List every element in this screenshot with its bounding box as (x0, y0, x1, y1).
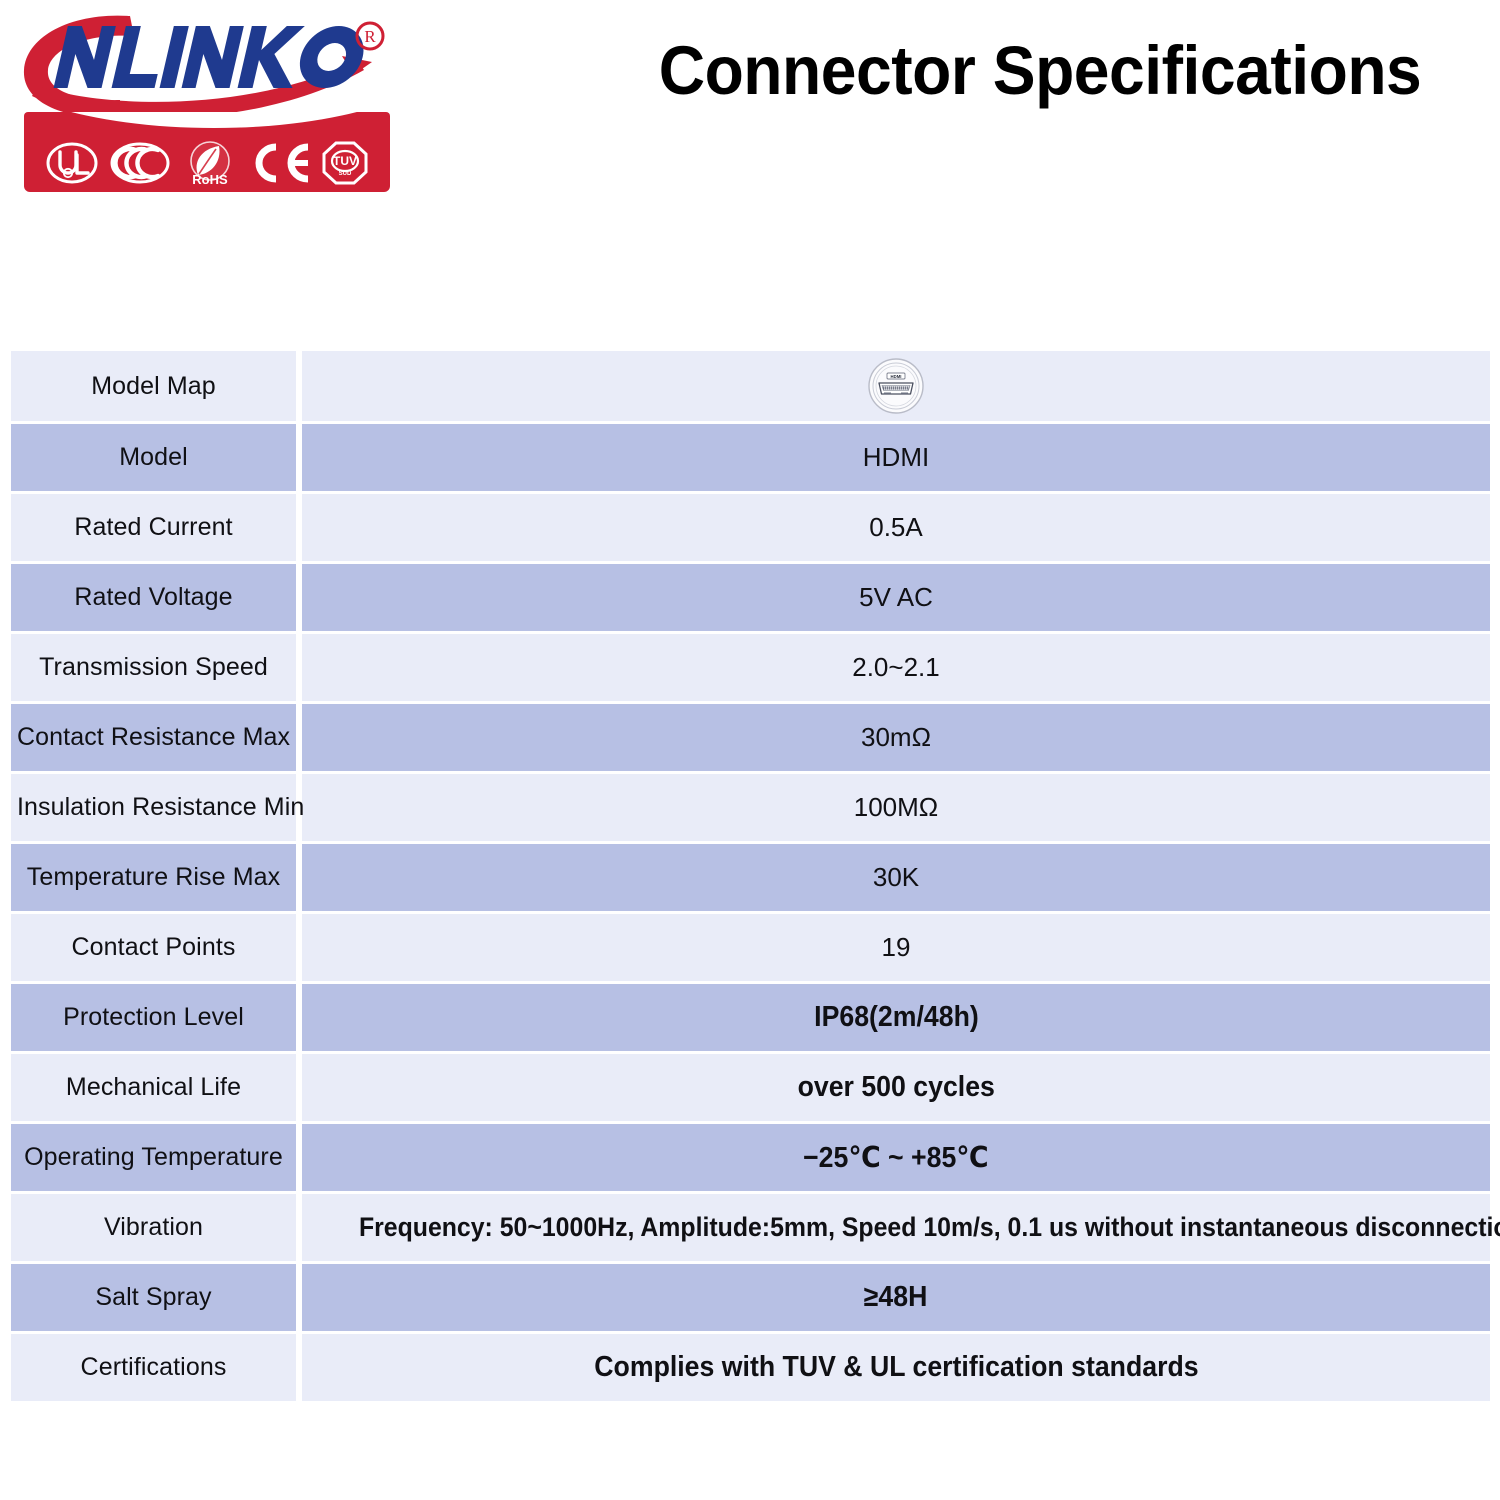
spec-value-cell: IP68(2m/48h) (302, 981, 1490, 1051)
spec-value: Frequency: 50~1000Hz, Amplitude:5mm, Spe… (359, 1212, 1500, 1243)
page-header: R (0, 0, 1500, 200)
spec-label: Model Map (11, 351, 302, 421)
table-row: Operating Temperature −25℃ ~ +85℃ (11, 1121, 1490, 1191)
page-root: R (0, 0, 1500, 1500)
svg-text:RoHS: RoHS (192, 172, 228, 186)
spec-label: Temperature Rise Max (11, 841, 302, 911)
spec-label: Contact Resistance Max (11, 701, 302, 771)
spec-label: Insulation Resistance Min (11, 771, 302, 841)
spec-value: 5V AC (302, 561, 1490, 631)
spec-label: Certifications (11, 1331, 302, 1401)
table-row: Contact Resistance Max 30mΩ (11, 701, 1490, 771)
spec-label: Transmission Speed (11, 631, 302, 701)
brand-logo: R (12, 8, 390, 190)
table-row: Protection Level IP68(2m/48h) (11, 981, 1490, 1051)
table-row: Mechanical Life over 500 cycles (11, 1051, 1490, 1121)
table-row: Rated Current 0.5A (11, 491, 1490, 561)
spec-value-cell: Frequency: 50~1000Hz, Amplitude:5mm, Spe… (302, 1191, 1490, 1261)
hdmi-connector-icon: HDMI (863, 356, 929, 416)
spec-label: Model (11, 421, 302, 491)
spec-value: 19 (302, 911, 1490, 981)
registered-mark-icon: R (357, 23, 383, 49)
table-row: Model Map HDMI (11, 351, 1490, 421)
spec-value-cell: Complies with TUV & UL certification sta… (302, 1331, 1490, 1401)
tuv-badge-icon: TUV SUD (321, 140, 369, 186)
table-row: Temperature Rise Max 30K (11, 841, 1490, 911)
table-row: Contact Points 19 (11, 911, 1490, 981)
page-title: Connector Specifications (626, 33, 1454, 109)
spec-label: Operating Temperature (11, 1121, 302, 1191)
ccc-badge-icon (110, 141, 170, 185)
spec-label: Salt Spray (11, 1261, 302, 1331)
ul-badge-icon (45, 141, 99, 185)
table-row: Salt Spray ≥48H (11, 1261, 1490, 1331)
spec-label: Contact Points (11, 911, 302, 981)
spec-value: IP68(2m/48h) (814, 1001, 979, 1034)
spec-value-cell: ≥48H (302, 1261, 1490, 1331)
spec-value: ≥48H (864, 1281, 928, 1314)
svg-text:HDMI: HDMI (891, 374, 902, 379)
table-row: Model HDMI (11, 421, 1490, 491)
svg-text:TUV: TUV (333, 154, 357, 168)
spec-value: HDMI (302, 421, 1490, 491)
spec-value: Complies with TUV & UL certification sta… (594, 1351, 1198, 1384)
spec-value: 0.5A (302, 491, 1490, 561)
spec-table-body: Model Map HDMI (11, 351, 1490, 1401)
spec-value: 30K (302, 841, 1490, 911)
rohs-badge-icon: RoHS (181, 140, 239, 186)
svg-text:SUD: SUD (339, 171, 352, 177)
spec-value: 30mΩ (302, 701, 1490, 771)
table-row: Vibration Frequency: 50~1000Hz, Amplitud… (11, 1191, 1490, 1261)
spec-value-cell: over 500 cycles (302, 1051, 1490, 1121)
spec-label: Vibration (11, 1191, 302, 1261)
certification-badge-bar: RoHS TUV SUD (24, 112, 390, 192)
spec-value-cell: −25℃ ~ +85℃ (302, 1121, 1490, 1191)
cnlinko-wordmark-icon: R (12, 8, 390, 120)
spec-label: Protection Level (11, 981, 302, 1051)
spec-value: 2.0~2.1 (302, 631, 1490, 701)
spec-value-image: HDMI (302, 351, 1490, 421)
spec-value: 100MΩ (302, 771, 1490, 841)
spec-value: over 500 cycles (797, 1071, 994, 1104)
spec-label: Mechanical Life (11, 1051, 302, 1121)
table-row: Insulation Resistance Min 100MΩ (11, 771, 1490, 841)
spec-value: −25℃ ~ +85℃ (803, 1140, 989, 1175)
svg-text:R: R (364, 27, 376, 46)
connector-specifications-table: Model Map HDMI (11, 351, 1490, 1401)
table-row: Certifications Complies with TUV & UL ce… (11, 1331, 1490, 1401)
ce-badge-icon (250, 141, 310, 185)
spec-label: Rated Voltage (11, 561, 302, 631)
spec-label: Rated Current (11, 491, 302, 561)
table-row: Rated Voltage 5V AC (11, 561, 1490, 631)
table-row: Transmission Speed 2.0~2.1 (11, 631, 1490, 701)
